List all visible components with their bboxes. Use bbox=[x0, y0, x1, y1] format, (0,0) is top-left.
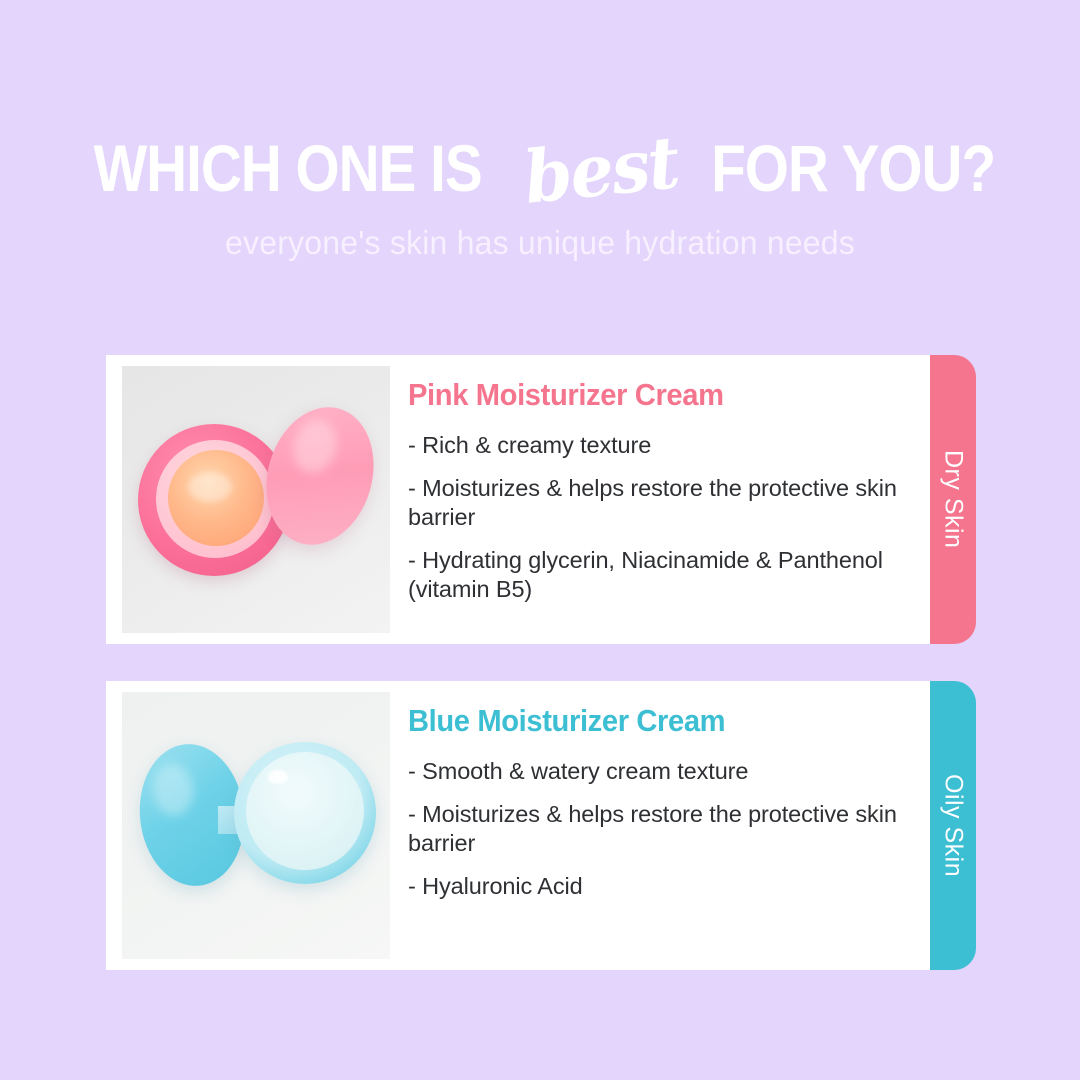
list-item: - Hydrating glycerin, Niacinamide & Pant… bbox=[408, 546, 906, 605]
blue-gel-icon bbox=[246, 752, 364, 870]
list-item: - Rich & creamy texture bbox=[408, 431, 906, 461]
blue-jar-photo bbox=[122, 692, 390, 959]
card-body-pink: Pink Moisturizer Cream - Rich & creamy t… bbox=[390, 355, 932, 618]
skin-type-tab-oily-label: Oily Skin bbox=[939, 774, 968, 877]
headline-part-two: FOR YOU? bbox=[711, 135, 995, 201]
pink-cream-icon bbox=[168, 450, 264, 546]
list-item: - Moisturizes & helps restore the protec… bbox=[408, 474, 906, 533]
page-subtitle: everyone's skin has unique hydration nee… bbox=[16, 224, 1064, 262]
list-item: - Smooth & watery cream texture bbox=[408, 757, 906, 787]
product-card-blue[interactable]: Blue Moisturizer Cream - Smooth & watery… bbox=[106, 681, 932, 970]
product-title-pink: Pink Moisturizer Cream bbox=[408, 377, 876, 413]
skin-type-tab-dry[interactable]: Dry Skin bbox=[930, 355, 976, 644]
skin-type-tab-dry-label: Dry Skin bbox=[939, 450, 968, 548]
pink-jar-photo bbox=[122, 366, 390, 633]
list-item: - Moisturizes & helps restore the protec… bbox=[408, 800, 906, 859]
product-card-pink[interactable]: Pink Moisturizer Cream - Rich & creamy t… bbox=[106, 355, 932, 644]
page-title: WHICH ONE IS best FOR YOU? bbox=[0, 132, 1080, 204]
header: WHICH ONE IS best FOR YOU? everyone's sk… bbox=[0, 0, 1080, 262]
card-body-blue: Blue Moisturizer Cream - Smooth & watery… bbox=[390, 681, 932, 914]
product-title-blue: Blue Moisturizer Cream bbox=[408, 703, 876, 739]
headline-script-word: best bbox=[515, 126, 687, 215]
list-item: - Hyaluronic Acid bbox=[408, 872, 906, 902]
headline-part-one: WHICH ONE IS bbox=[94, 135, 482, 201]
skin-type-tab-oily[interactable]: Oily Skin bbox=[930, 681, 976, 970]
